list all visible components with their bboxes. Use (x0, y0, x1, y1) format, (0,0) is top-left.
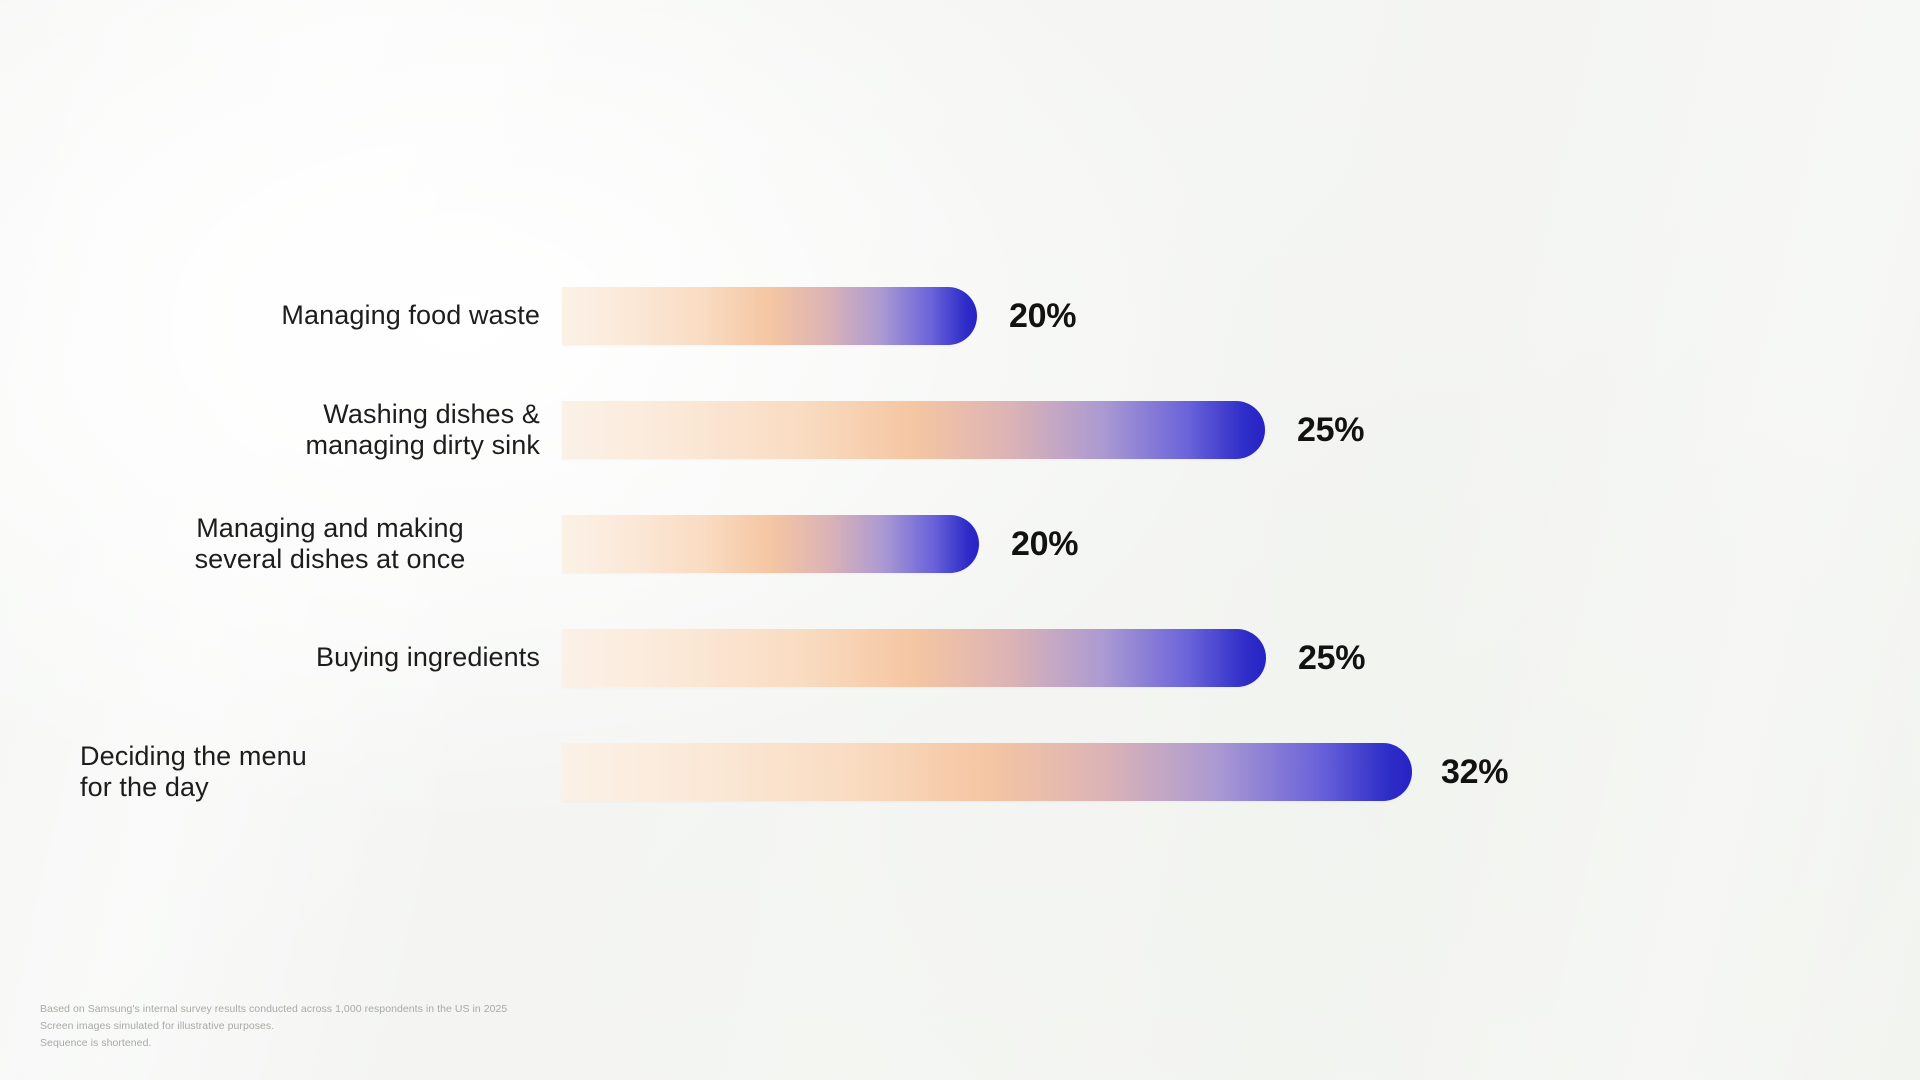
chart-row: Buying ingredients 25% (0, 629, 1920, 687)
horizontal-bar-chart: Managing food waste 20% Washing dishes &… (0, 0, 1920, 1080)
bar-track (562, 743, 1412, 801)
chart-row: Managing food waste 20% (0, 287, 1920, 345)
chart-row: Managing and making several dishes at on… (0, 515, 1920, 573)
bar-track (562, 287, 977, 345)
bar-track (562, 629, 1266, 687)
bar-value-label: 20% (1009, 287, 1076, 345)
bar-fill (562, 287, 977, 345)
bar-fill (562, 401, 1265, 459)
bar-track (562, 515, 979, 573)
bar-value-label: 25% (1298, 629, 1365, 687)
chart-row: Washing dishes & managing dirty sink 25% (0, 401, 1920, 459)
bar-category-label: Managing and making several dishes at on… (120, 513, 540, 576)
bar-fill (562, 629, 1266, 687)
bar-value-label: 20% (1011, 515, 1078, 573)
bar-category-label: Buying ingredients (120, 642, 540, 673)
bar-value-label: 32% (1441, 743, 1508, 801)
slide-canvas: Managing food waste 20% Washing dishes &… (0, 0, 1920, 1080)
bar-category-label: Washing dishes & managing dirty sink (120, 399, 540, 462)
bar-fill (562, 515, 979, 573)
bar-category-label: Deciding the menu for the day (80, 741, 500, 804)
bar-category-label: Managing food waste (120, 300, 540, 331)
bar-track (562, 401, 1265, 459)
bar-value-label: 25% (1297, 401, 1364, 459)
footnote-disclaimer: Based on Samsung's internal survey resul… (40, 1001, 507, 1052)
chart-row: Deciding the menu for the day 32% (0, 743, 1920, 801)
bar-fill (562, 743, 1412, 801)
